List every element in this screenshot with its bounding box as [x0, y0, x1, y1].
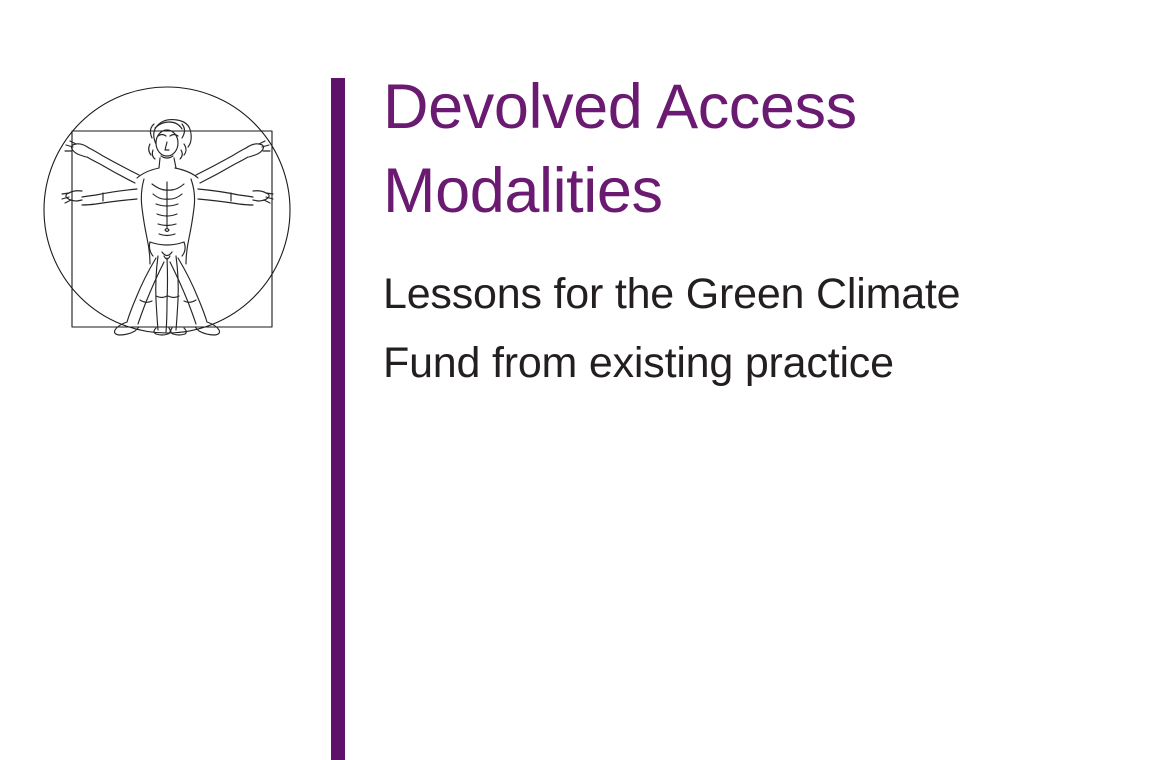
title-slide: Devolved Access Modalities Lessons for t… — [0, 0, 1170, 760]
vitruvian-man-icon — [40, 80, 296, 336]
title-text-column: Devolved Access Modalities Lessons for t… — [383, 66, 1083, 399]
vitruvian-man-logo — [40, 80, 296, 336]
accent-bar — [331, 78, 345, 760]
page-subtitle: Lessons for the Green Climate Fund from … — [383, 260, 1083, 399]
page-title: Devolved Access Modalities — [383, 66, 1083, 234]
